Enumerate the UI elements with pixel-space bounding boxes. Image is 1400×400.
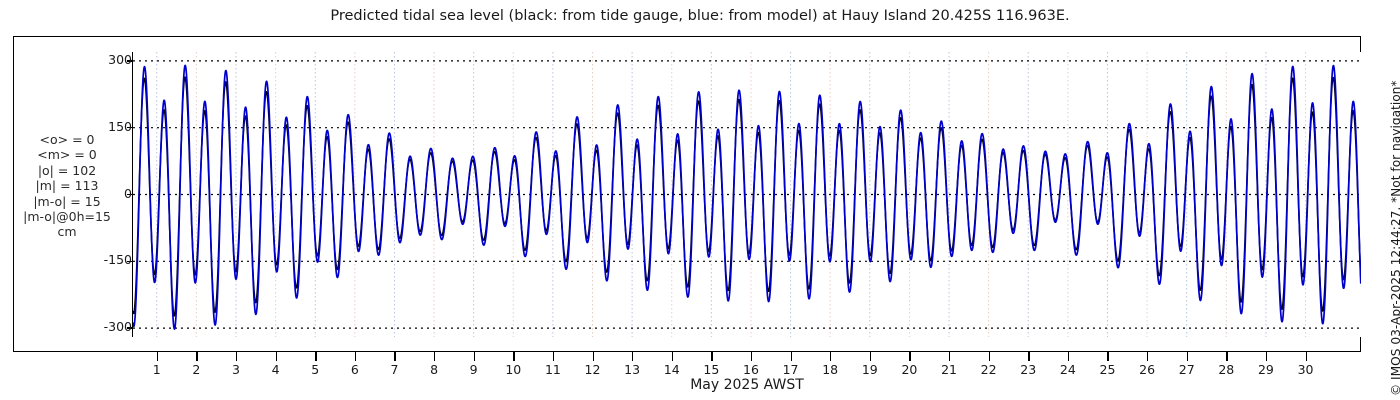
statistics-line: |m| = 113 (6, 178, 128, 193)
statistics-line: <o> = 0 (6, 132, 128, 147)
x-tick-label: 7 (379, 362, 409, 377)
statistics-block: <o> = 0<m> = 0|o| = 102|m| = 113|m-o| = … (6, 132, 128, 240)
x-tick-label: 22 (974, 362, 1004, 377)
x-tick-label: 2 (181, 362, 211, 377)
x-tick-mark (355, 352, 356, 361)
x-tick-label: 10 (498, 362, 528, 377)
y-axis-spine (132, 52, 133, 337)
x-tick-label: 14 (657, 362, 687, 377)
x-tick-mark (1107, 352, 1108, 361)
x-tick-label: 24 (1053, 362, 1083, 377)
x-tick-mark (791, 352, 792, 361)
x-tick-mark (434, 352, 435, 361)
x-tick-mark (909, 352, 910, 361)
x-tick-label: 5 (300, 362, 330, 377)
x-tick-mark (672, 352, 673, 361)
x-tick-label: 15 (696, 362, 726, 377)
x-tick-mark (711, 352, 712, 361)
x-tick-label: 27 (1172, 362, 1202, 377)
x-tick-mark (394, 352, 395, 361)
statistics-line: |o| = 102 (6, 163, 128, 178)
x-tick-mark (1226, 352, 1227, 361)
x-tick-label: 9 (459, 362, 489, 377)
x-tick-label: 28 (1211, 362, 1241, 377)
statistics-line: |m-o| = 15 (6, 194, 128, 209)
x-tick-label: 23 (1013, 362, 1043, 377)
model-tide-trace (133, 65, 1361, 329)
x-tick-label: 3 (221, 362, 251, 377)
x-tick-mark (196, 352, 197, 361)
x-tick-label: 25 (1092, 362, 1122, 377)
x-tick-label: 17 (776, 362, 806, 377)
y-tick-label: -150 (104, 252, 132, 267)
plot-area (133, 52, 1361, 337)
statistics-line: <m> = 0 (6, 147, 128, 162)
x-tick-mark (553, 352, 554, 361)
y-tick-label: 300 (108, 52, 132, 67)
x-tick-label: 1 (142, 362, 172, 377)
y-tick-label: 0 (124, 186, 132, 201)
x-tick-label: 11 (538, 362, 568, 377)
x-tick-label: 8 (419, 362, 449, 377)
x-tick-mark (1028, 352, 1029, 361)
x-tick-mark (474, 352, 475, 361)
x-tick-mark (276, 352, 277, 361)
x-tick-mark (989, 352, 990, 361)
x-tick-mark (1187, 352, 1188, 361)
statistics-line: |m-o|@0h=15 (6, 209, 128, 224)
x-tick-mark (751, 352, 752, 361)
x-tick-mark (513, 352, 514, 361)
x-tick-label: 21 (934, 362, 964, 377)
x-tick-mark (830, 352, 831, 361)
x-tick-label: 18 (815, 362, 845, 377)
x-tick-mark (1266, 352, 1267, 361)
x-tick-label: 12 (578, 362, 608, 377)
x-tick-mark (1147, 352, 1148, 361)
x-axis-title: May 2025 AWST (133, 377, 1361, 393)
statistics-line: cm (6, 224, 128, 239)
x-tick-label: 20 (894, 362, 924, 377)
x-tick-label: 6 (340, 362, 370, 377)
x-tick-mark (870, 352, 871, 361)
x-tick-label: 30 (1291, 362, 1321, 377)
x-tick-label: 29 (1251, 362, 1281, 377)
x-tick-mark (157, 352, 158, 361)
x-tick-mark (236, 352, 237, 361)
tide-series-svg (133, 52, 1361, 337)
page-title: Predicted tidal sea level (black: from t… (0, 8, 1400, 24)
x-tick-label: 4 (261, 362, 291, 377)
x-tick-mark (632, 352, 633, 361)
y-tick-label: -300 (104, 319, 132, 334)
x-tick-mark (949, 352, 950, 361)
x-tick-mark (1068, 352, 1069, 361)
copyright-note: © IMOS 03-Apr-2025 12:44:27. *Not for na… (1373, 0, 1395, 400)
x-tick-label: 26 (1132, 362, 1162, 377)
x-tick-mark (315, 352, 316, 361)
tidal-chart-figure: Predicted tidal sea level (black: from t… (0, 0, 1400, 400)
copyright-text: © IMOS 03-Apr-2025 12:44:27. *Not for na… (1389, 81, 1400, 396)
y-tick-label: 150 (108, 119, 132, 134)
x-tick-label: 13 (617, 362, 647, 377)
x-tick-mark (1306, 352, 1307, 361)
x-tick-label: 19 (855, 362, 885, 377)
x-tick-label: 16 (736, 362, 766, 377)
x-tick-mark (593, 352, 594, 361)
